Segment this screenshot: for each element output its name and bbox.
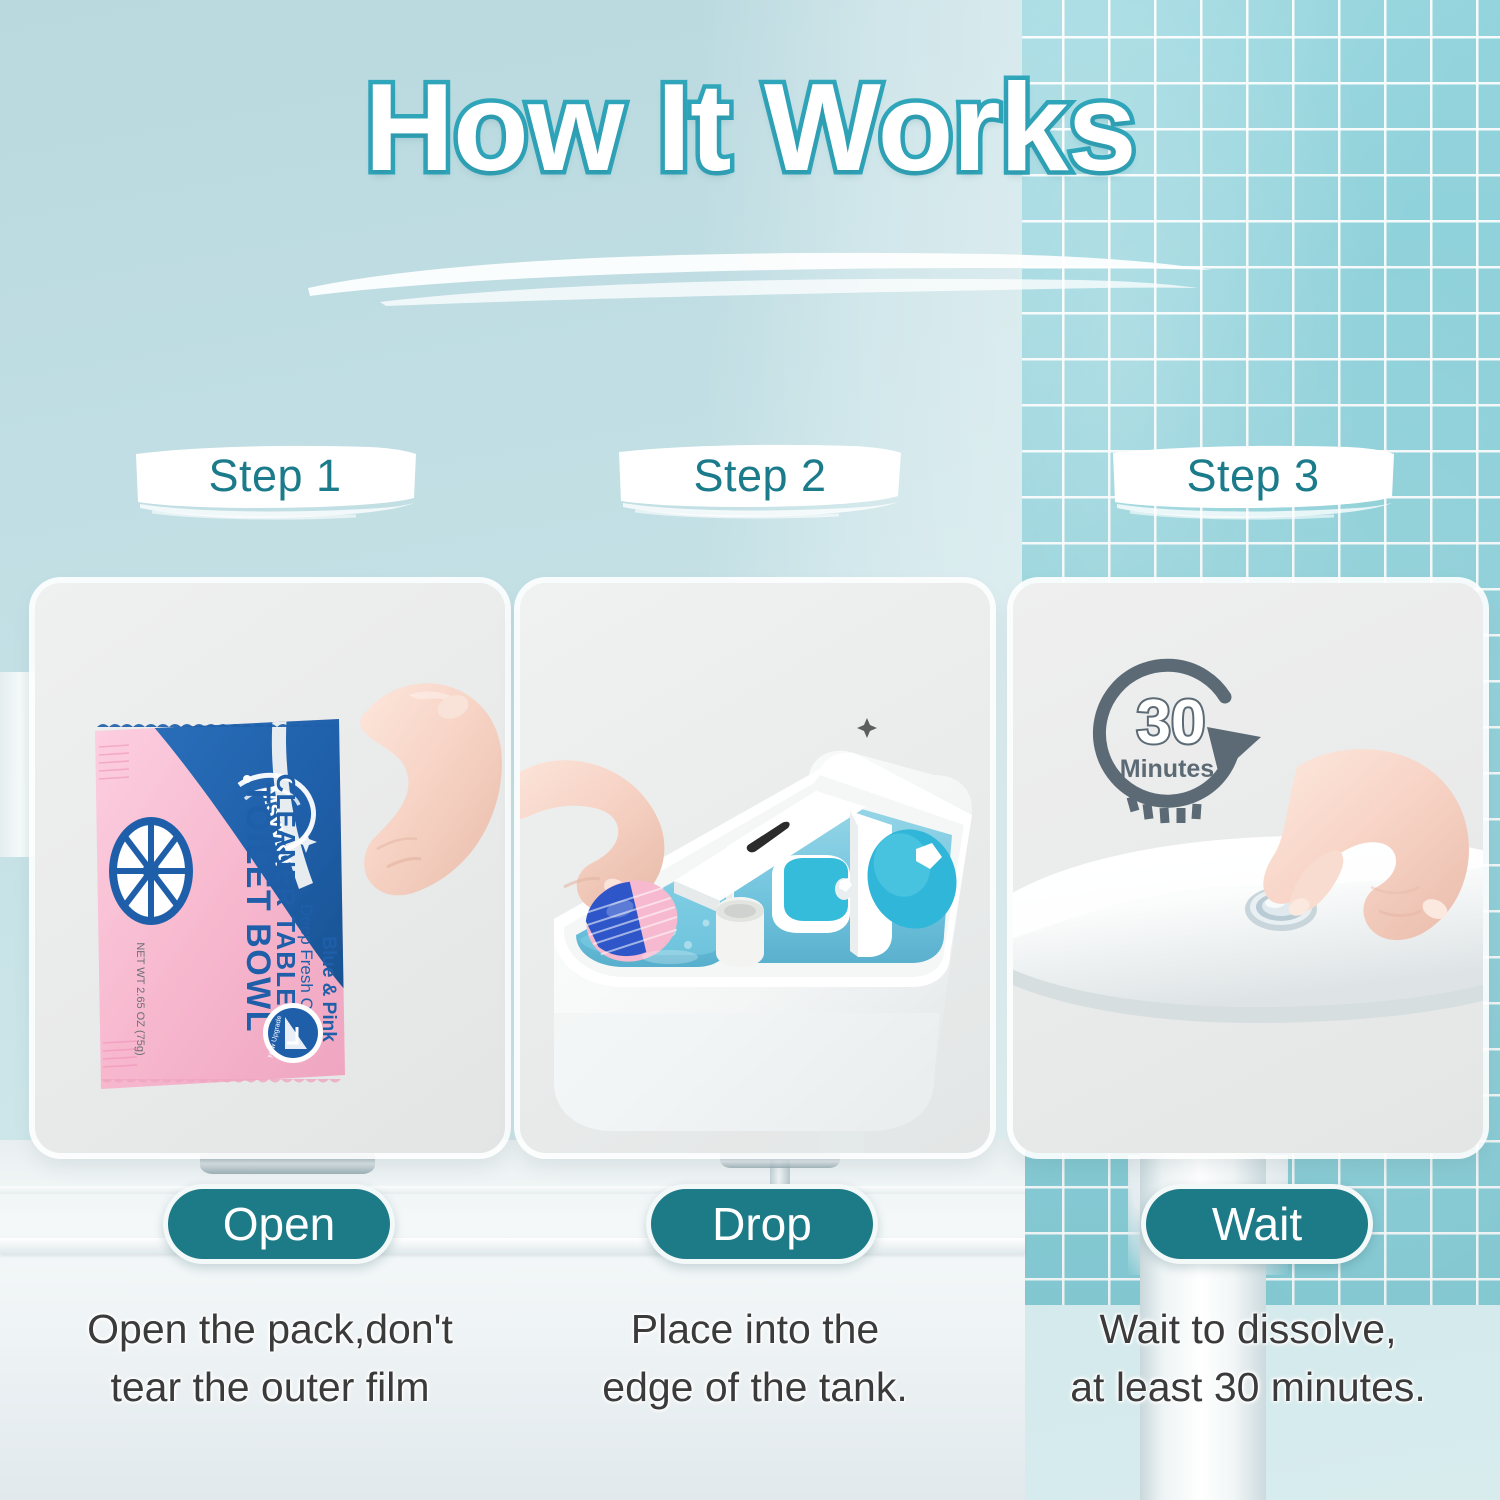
step-photo-3: 30 Minutes: [1013, 583, 1483, 1153]
step-caption-2: Place into the edge of the tank.: [510, 1300, 1000, 1416]
step-pill-2: Drop: [646, 1184, 878, 1264]
step-photo-card-3: 30 Minutes: [1013, 583, 1483, 1153]
step-caption-1: Open the pack,don't tear the outer film: [25, 1300, 515, 1416]
step-label-3: Step 3: [1108, 438, 1398, 524]
caption-line-2a: Place into the: [510, 1300, 1000, 1358]
step-pill-3: Wait: [1141, 1184, 1373, 1264]
step-label-1: Step 1: [130, 438, 420, 524]
caption-line-3b: at least 30 minutes.: [1003, 1358, 1493, 1416]
package-product-line2: CLEANER TABLETS: [271, 774, 301, 1043]
infographic-root: How It Works Step 1: [0, 0, 1500, 1500]
package-net-weight: NET WT 2.65 OZ (75g): [134, 942, 146, 1055]
step-banner-3: Step 3: [1108, 438, 1398, 524]
toilet-tank-illustration: [520, 583, 990, 1153]
step-banner-2: Step 2: [615, 438, 905, 524]
step-photo-card-1: Msvvkq TOILET BOWL CLEANER TABLETS Deep …: [35, 583, 505, 1153]
step-label-2: Step 2: [615, 438, 905, 524]
caption-line-3a: Wait to dissolve,: [1003, 1300, 1493, 1358]
product-package: Msvvkq TOILET BOWL CLEANER TABLETS Deep …: [77, 703, 357, 1103]
caption-line-1a: Open the pack,don't: [25, 1300, 515, 1358]
step-photo-card-2: [520, 583, 990, 1153]
step-pill-1: Open: [163, 1184, 395, 1264]
step-banner-1: Step 1: [130, 438, 420, 524]
step-column-1: Step 1: [35, 0, 505, 1500]
step-photo-1: Msvvkq TOILET BOWL CLEANER TABLETS Deep …: [35, 583, 505, 1153]
caption-line-1b: tear the outer film: [25, 1358, 515, 1416]
caption-line-2b: edge of the tank.: [510, 1358, 1000, 1416]
step-column-3: Step 3 30: [1013, 0, 1483, 1500]
step-photo-2: [520, 583, 990, 1153]
step-caption-3: Wait to dissolve, at least 30 minutes.: [1003, 1300, 1493, 1416]
step-column-2: Step 2: [520, 0, 990, 1500]
flush-button-illustration: [1013, 583, 1483, 1153]
